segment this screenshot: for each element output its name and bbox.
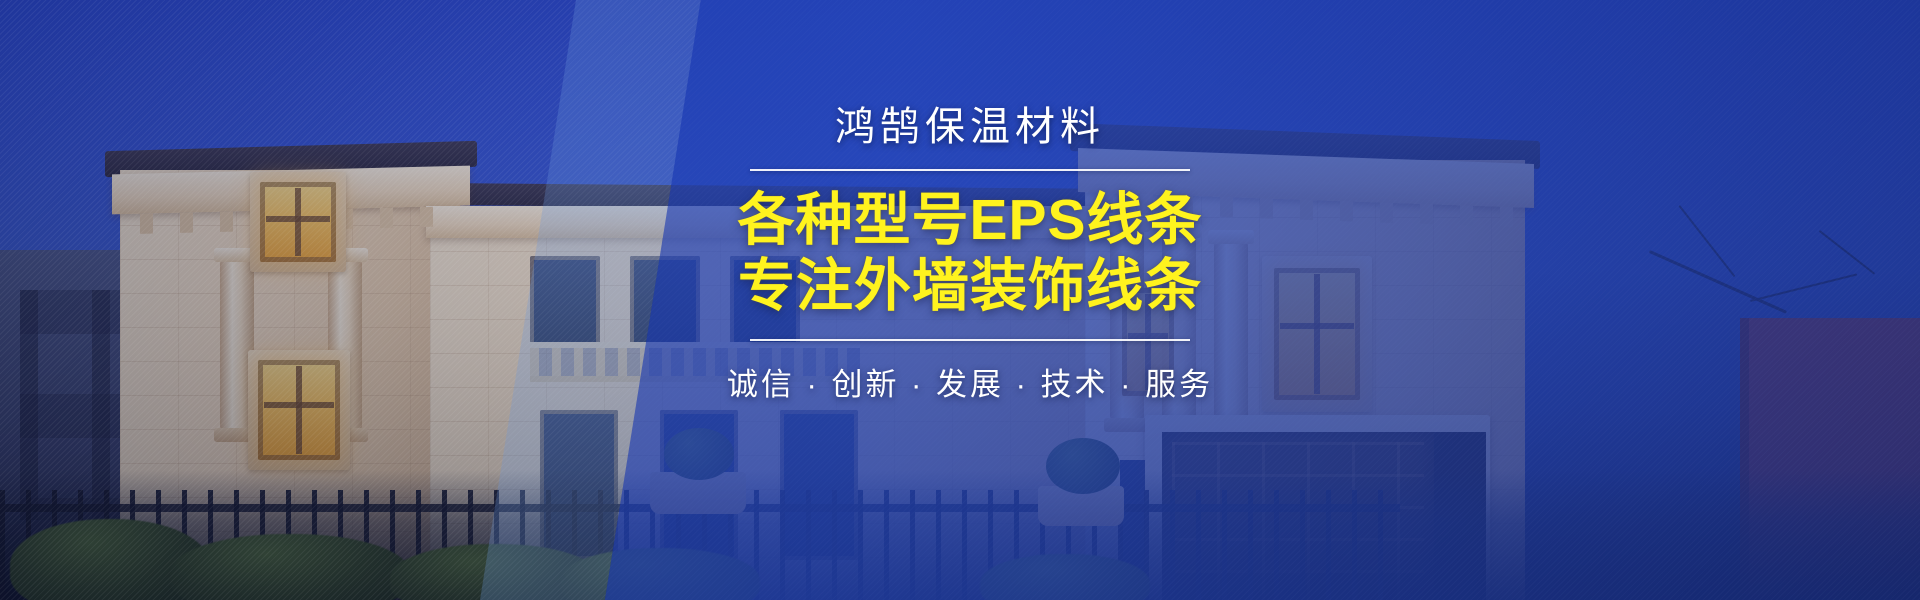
divider-bottom (750, 339, 1190, 341)
headline-block: 各种型号EPS线条 专注外墙装饰线条 (690, 187, 1250, 319)
divider-top (750, 169, 1190, 171)
brand-name: 鸿鹄保温材料 (690, 104, 1250, 151)
headline-line-2: 专注外墙装饰线条 (690, 253, 1250, 319)
tagline: 诚信 · 创新 · 发展 · 技术 · 服务 (690, 359, 1250, 404)
headline-line-1: 各种型号EPS线条 (690, 187, 1250, 253)
promo-banner: 鸿鹄保温材料 各种型号EPS线条 专注外墙装饰线条 诚信 · 创新 · 发展 ·… (0, 0, 1920, 600)
banner-content: 鸿鹄保温材料 各种型号EPS线条 专注外墙装饰线条 诚信 · 创新 · 发展 ·… (690, 104, 1250, 404)
